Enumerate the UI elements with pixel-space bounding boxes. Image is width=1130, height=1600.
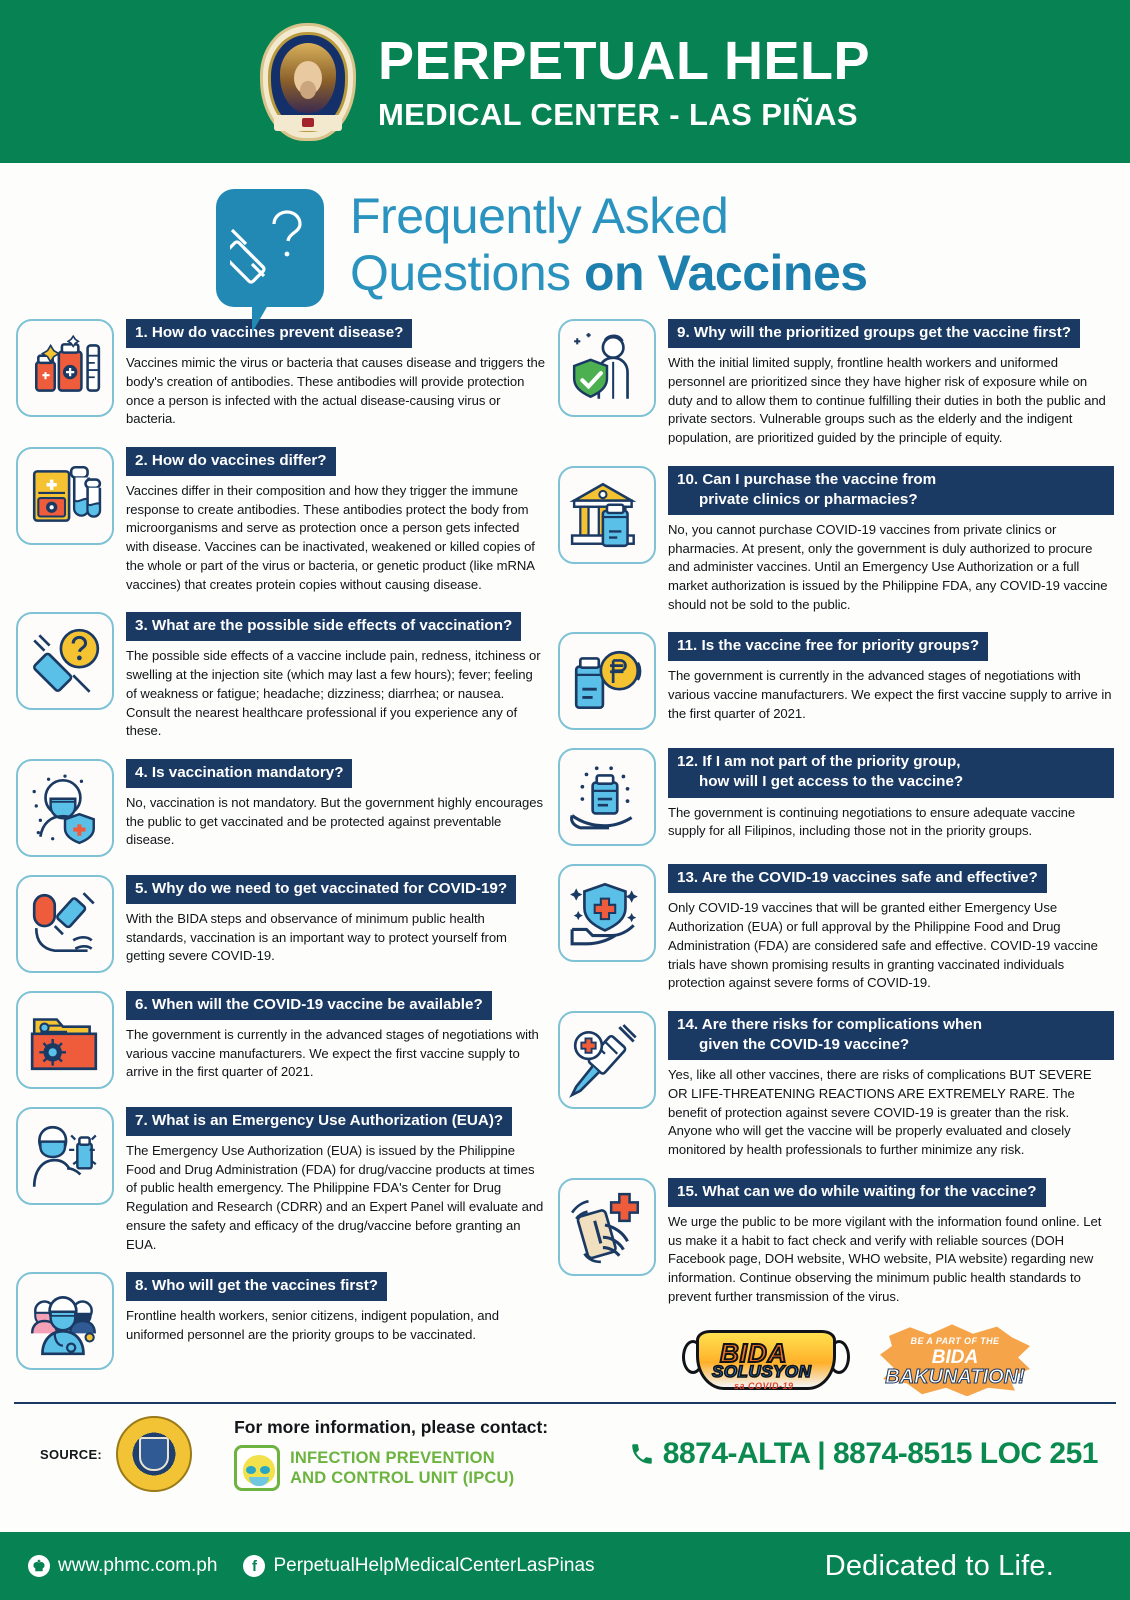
tagline: Dedicated to Life. — [825, 1550, 1102, 1583]
doh-philippines-seal-icon — [116, 1416, 192, 1492]
priority-groups-people-icon — [16, 1272, 114, 1370]
faq-answer: No, vaccination is not mandatory. But th… — [126, 794, 546, 850]
title-line2-bold: on Vaccines — [584, 245, 868, 301]
website-link[interactable]: ♚ www.phmc.com.ph — [28, 1555, 217, 1577]
ipcu-block: INFECTION PREVENTION AND CONTROL UNIT (I… — [234, 1445, 548, 1491]
page-title-block: Frequently Asked Questions on Vaccines — [0, 163, 1130, 307]
faq-answer: Only COVID-19 vaccines that will be gran… — [668, 899, 1114, 993]
faq-item: 12. If I am not part of the priority gro… — [558, 748, 1114, 846]
facebook-link[interactable]: f PerpetualHelpMedicalCenterLasPinas — [243, 1555, 594, 1577]
faq-question: 8. Who will get the vaccines first? — [126, 1272, 387, 1301]
bida-solusyon-word3: sa COVID-19 — [734, 1381, 794, 1391]
faq-question: 10. Can I purchase the vaccine frompriva… — [668, 466, 1114, 515]
faq-column-right: 9. Why will the prioritized groups get t… — [558, 319, 1114, 1396]
faq-body: 10. Can I purchase the vaccine frompriva… — [668, 466, 1114, 615]
faq-item: 15. What can we do while waiting for the… — [558, 1178, 1114, 1307]
hospital-header-banner: PERPETUAL HELP MEDICAL CENTER - LAS PIÑA… — [0, 0, 1130, 163]
faq-question: 13. Are the COVID-19 vaccines safe and e… — [668, 864, 1047, 893]
faq-body: 9. Why will the prioritized groups get t… — [668, 319, 1114, 448]
faq-columns: 1. How do vaccines prevent disease?Vacci… — [0, 307, 1130, 1396]
campaign-logos-row: BIDA SOLUSYON sa COVID-19 BE A PART OF T… — [598, 1324, 1114, 1396]
syringe-question-bubble-icon — [216, 189, 324, 307]
faq-item: 11. Is the vaccine free for priority gro… — [558, 632, 1114, 730]
faq-answer: The government is continuing negotiation… — [668, 804, 1114, 841]
hospital-brand: PERPETUAL HELP MEDICAL CENTER - LAS PIÑA… — [378, 34, 870, 130]
government-building-vial-icon — [558, 466, 656, 564]
faq-column-left: 1. How do vaccines prevent disease?Vacci… — [16, 319, 546, 1396]
bida-bakunation-logo: BE A PART OF THE BIDA BAKUNATION! — [880, 1324, 1030, 1396]
syringe-medical-cross-icon — [558, 1011, 656, 1109]
faq-question: 4. Is vaccination mandatory? — [126, 759, 352, 788]
university-seal-icon — [260, 23, 356, 141]
person-green-shield-check-icon — [558, 319, 656, 417]
faq-item: 13. Are the COVID-19 vaccines safe and e… — [558, 864, 1114, 993]
faq-question: 11. Is the vaccine free for priority gro… — [668, 632, 988, 661]
bakunation-line3: BAKUNATION! — [876, 1366, 1034, 1389]
faq-item: 7. What is an Emergency Use Authorizatio… — [16, 1107, 546, 1254]
masked-person-shield-icon — [16, 759, 114, 857]
faq-item: 9. Why will the prioritized groups get t… — [558, 319, 1114, 448]
bida-solusyon-logo: BIDA SOLUSYON sa COVID-19 — [682, 1324, 850, 1396]
faq-answer: The possible side effects of a vaccine i… — [126, 647, 546, 741]
faq-item: 6. When will the COVID-19 vaccine be ava… — [16, 991, 546, 1089]
faq-body: 8. Who will get the vaccines first?Front… — [126, 1272, 546, 1345]
faq-item: 4. Is vaccination mandatory?No, vaccinat… — [16, 759, 546, 857]
faq-item: 3. What are the possible side effects of… — [16, 612, 546, 741]
faq-body: 12. If I am not part of the priority gro… — [668, 748, 1114, 841]
faq-question: 2. How do vaccines differ? — [126, 447, 336, 476]
faq-answer: The government is currently in the advan… — [668, 667, 1114, 723]
faq-answer: The Emergency Use Authorization (EUA) is… — [126, 1142, 546, 1254]
faq-body: 11. Is the vaccine free for priority gro… — [668, 632, 1114, 723]
more-info-label: For more information, please contact: — [234, 1417, 548, 1438]
faq-question: 3. What are the possible side effects of… — [126, 612, 521, 641]
globe-icon: ♚ — [28, 1555, 50, 1577]
contact-phone[interactable]: 8874-ALTA | 8874-8515 LOC 251 — [629, 1437, 1112, 1471]
faq-item: 10. Can I purchase the vaccine frompriva… — [558, 466, 1114, 615]
infographic-page: PERPETUAL HELP MEDICAL CENTER - LAS PIÑA… — [0, 0, 1130, 1600]
faq-body: 4. Is vaccination mandatory?No, vaccinat… — [126, 759, 546, 850]
faq-item: 2. How do vaccines differ?Vaccines diffe… — [16, 447, 546, 594]
hand-holding-vial-icon — [558, 748, 656, 846]
source-label: SOURCE: — [40, 1447, 102, 1462]
faq-body: 13. Are the COVID-19 vaccines safe and e… — [668, 864, 1114, 993]
faq-body: 14. Are there risks for complications wh… — [668, 1011, 1114, 1160]
title-line1: Frequently Asked — [350, 191, 868, 241]
faq-body: 6. When will the COVID-19 vaccine be ava… — [126, 991, 546, 1082]
faq-answer: With the initial limited supply, frontli… — [668, 354, 1114, 448]
arm-injection-icon — [16, 875, 114, 973]
org-name-line1: PERPETUAL HELP — [378, 34, 870, 88]
faq-question: 9. Why will the prioritized groups get t… — [668, 319, 1080, 348]
faq-body: 7. What is an Emergency Use Authorizatio… — [126, 1107, 546, 1254]
faq-body: 3. What are the possible side effects of… — [126, 612, 546, 741]
faq-body: 1. How do vaccines prevent disease?Vacci… — [126, 319, 546, 429]
phone-icon — [629, 1441, 655, 1467]
hand-phone-alert-cross-icon — [558, 1178, 656, 1276]
contact-info: For more information, please contact: IN… — [234, 1417, 548, 1491]
faq-answer: Frontline health workers, senior citizen… — [126, 1307, 546, 1344]
footer-bar: ♚ www.phmc.com.ph f PerpetualHelpMedical… — [0, 1532, 1130, 1600]
faq-answer: The government is currently in the advan… — [126, 1026, 546, 1082]
faq-item: 8. Who will get the vaccines first?Front… — [16, 1272, 546, 1370]
contact-strip: SOURCE: For more information, please con… — [0, 1404, 1130, 1492]
facebook-icon: f — [243, 1555, 265, 1577]
page-title: Frequently Asked Questions on Vaccines — [350, 189, 868, 298]
faq-answer: We urge the public to be more vigilant w… — [668, 1213, 1114, 1307]
org-name-line2: MEDICAL CENTER - LAS PIÑAS — [378, 99, 870, 130]
ipcu-name: INFECTION PREVENTION AND CONTROL UNIT (I… — [290, 1448, 514, 1488]
ipcu-line2: AND CONTROL UNIT (IPCU) — [290, 1468, 514, 1488]
ipcu-line1: INFECTION PREVENTION — [290, 1448, 514, 1468]
faq-answer: Vaccines mimic the virus or bacteria tha… — [126, 354, 546, 429]
syringe-question-mark-icon — [16, 612, 114, 710]
vaccine-formula-testtube-icon — [16, 447, 114, 545]
faq-answer: With the BIDA steps and observance of mi… — [126, 910, 546, 966]
faq-answer: Vaccines differ in their composition and… — [126, 482, 546, 594]
faq-question: 14. Are there risks for complications wh… — [668, 1011, 1114, 1060]
faq-item: 14. Are there risks for complications wh… — [558, 1011, 1114, 1160]
bakunation-line1: BE A PART OF THE — [880, 1336, 1030, 1346]
faq-item: 1. How do vaccines prevent disease?Vacci… — [16, 319, 546, 429]
website-text: www.phmc.com.ph — [58, 1555, 217, 1577]
vial-peso-coin-icon — [558, 632, 656, 730]
faq-question: 5. Why do we need to get vaccinated for … — [126, 875, 516, 904]
bida-solusyon-word2: SOLUSYON — [712, 1362, 811, 1382]
faq-body: 2. How do vaccines differ?Vaccines diffe… — [126, 447, 546, 594]
faq-body: 5. Why do we need to get vaccinated for … — [126, 875, 546, 966]
phone-number: 8874-ALTA | 8874-8515 LOC 251 — [663, 1437, 1098, 1471]
faq-item: 5. Why do we need to get vaccinated for … — [16, 875, 546, 973]
faq-question: 15. What can we do while waiting for the… — [668, 1178, 1046, 1207]
facebook-text: PerpetualHelpMedicalCenterLasPinas — [273, 1555, 594, 1577]
faq-question: 12. If I am not part of the priority gro… — [668, 748, 1114, 797]
title-line2-light: Questions — [350, 245, 584, 301]
virus-folder-documents-icon — [16, 991, 114, 1089]
doctor-holding-vial-icon — [16, 1107, 114, 1205]
faq-answer: Yes, like all other vaccines, there are … — [668, 1066, 1114, 1160]
faq-question: 6. When will the COVID-19 vaccine be ava… — [126, 991, 492, 1020]
faq-answer: No, you cannot purchase COVID-19 vaccine… — [668, 521, 1114, 615]
faq-body: 15. What can we do while waiting for the… — [668, 1178, 1114, 1307]
hand-shield-cross-icon — [558, 864, 656, 962]
vaccine-vials-syringe-icon — [16, 319, 114, 417]
ipcu-logo-icon — [234, 1445, 280, 1491]
faq-question: 7. What is an Emergency Use Authorizatio… — [126, 1107, 512, 1136]
